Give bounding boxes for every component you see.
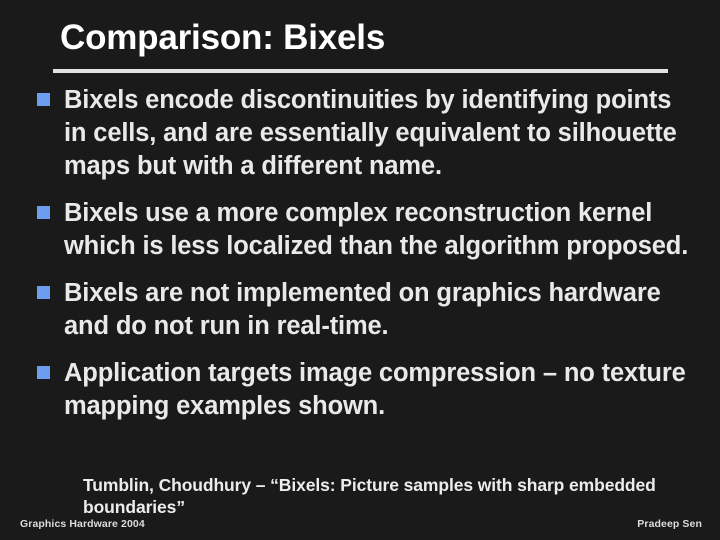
list-item: Bixels encode discontinuities by identif… — [36, 84, 696, 183]
list-item-label: Application targets image compression – … — [64, 359, 686, 420]
bullet-list: Bixels encode discontinuities by identif… — [36, 84, 696, 437]
page-title: Comparison: Bixels — [60, 16, 680, 60]
list-item-label: Bixels use a more complex reconstruction… — [64, 199, 688, 260]
presentation-slide: Comparison: Bixels Bixels encode discont… — [0, 0, 720, 540]
square-bullet-icon — [37, 286, 50, 299]
list-item-label: Bixels encode discontinuities by identif… — [64, 86, 677, 180]
citation-text: Tumblin, Choudhury – “Bixels: Picture sa… — [83, 474, 683, 518]
square-bullet-icon — [37, 93, 50, 106]
footer-author-label: Pradeep Sen — [637, 518, 702, 530]
title-divider — [53, 69, 668, 73]
footer-conference-label: Graphics Hardware 2004 — [20, 518, 145, 530]
list-item: Application targets image compression – … — [36, 357, 696, 423]
list-item-label: Bixels are not implemented on graphics h… — [64, 279, 661, 340]
square-bullet-icon — [37, 206, 50, 219]
square-bullet-icon — [37, 366, 50, 379]
list-item: Bixels are not implemented on graphics h… — [36, 277, 696, 343]
list-item: Bixels use a more complex reconstruction… — [36, 197, 696, 263]
